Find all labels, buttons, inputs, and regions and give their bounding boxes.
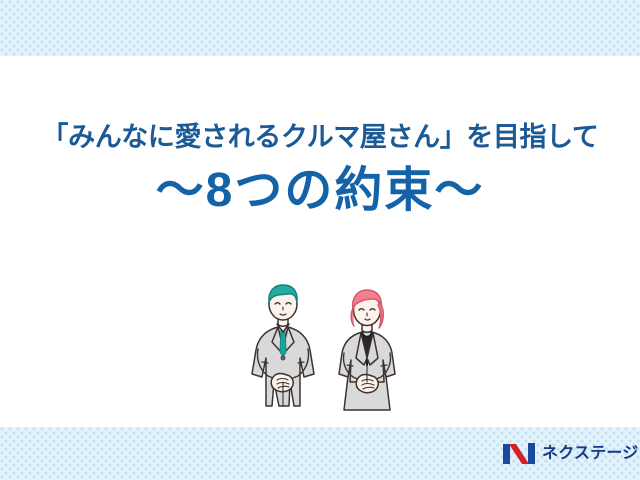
- nextage-logo: ネクステージ: [502, 441, 638, 467]
- top-dotted-band: [0, 0, 640, 56]
- two-bowing-staff-illustration: [232, 270, 422, 430]
- staff-illustration-svg: [232, 270, 422, 430]
- headline-line-1: 「みんなに愛されるクルマ屋さん」を目指して: [0, 118, 640, 156]
- headline-block: 「みんなに愛されるクルマ屋さん」を目指して 〜8つの約束〜: [0, 118, 640, 220]
- headline-line-2: 〜8つの約束〜: [0, 162, 640, 220]
- nextage-logo-text: ネクステージ: [542, 442, 638, 466]
- promotional-banner: 「みんなに愛されるクルマ屋さん」を目指して 〜8つの約束〜: [0, 0, 640, 480]
- nextage-n-mark-icon: [502, 442, 536, 466]
